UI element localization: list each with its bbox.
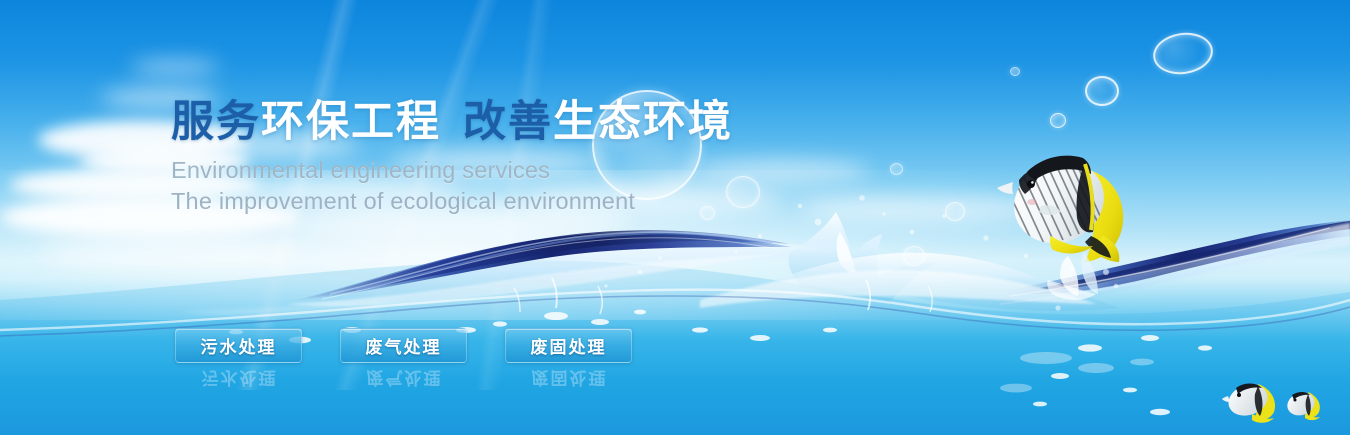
bubble-ring-3: [1050, 113, 1066, 128]
bubble-ring-8: [890, 163, 903, 175]
subtitle-line-1: Environmental engineering services: [171, 155, 733, 186]
service-button-wastewater[interactable]: 污水处理 污水处理: [175, 328, 302, 363]
service-button-solid-waste[interactable]: 废固处理 废固处理: [505, 328, 632, 363]
headline-segment-4: 生态环境: [553, 98, 733, 146]
headline-segment-1: 服务: [171, 98, 261, 146]
bubble-ring-4: [1010, 67, 1020, 76]
butterflyfish-small-2: [1283, 388, 1325, 422]
bubble-ring-9: [945, 202, 965, 221]
bubble-ring-2: [1085, 76, 1119, 106]
service-button-waste-gas-label: 废气处理: [366, 333, 442, 358]
fish-entry-splash: [1040, 250, 1150, 330]
service-button-wastewater-label: 污水处理: [201, 333, 277, 358]
headline-segment-3: 改善: [463, 98, 553, 146]
hero-banner: 服务环保工程改善生态环境 Environmental engineering s…: [0, 0, 1350, 435]
service-button-solid-waste-label: 废固处理: [531, 333, 607, 358]
butterflyfish-small-1: [1222, 378, 1282, 426]
page-subtitle: Environmental engineering services The i…: [171, 155, 733, 218]
page-title: 服务环保工程改善生态环境: [171, 98, 733, 146]
bubble-ring-7: [903, 246, 925, 266]
hero-copy: 服务环保工程改善生态环境 Environmental engineering s…: [171, 98, 733, 218]
service-button-row: 污水处理 污水处理 废气处理 废气处理 废固处理 废固处理: [175, 328, 632, 363]
service-button-waste-gas[interactable]: 废气处理 废气处理: [340, 328, 467, 363]
headline-segment-2: 环保工程: [261, 98, 441, 146]
subtitle-line-2: The improvement of ecological environmen…: [171, 186, 733, 217]
